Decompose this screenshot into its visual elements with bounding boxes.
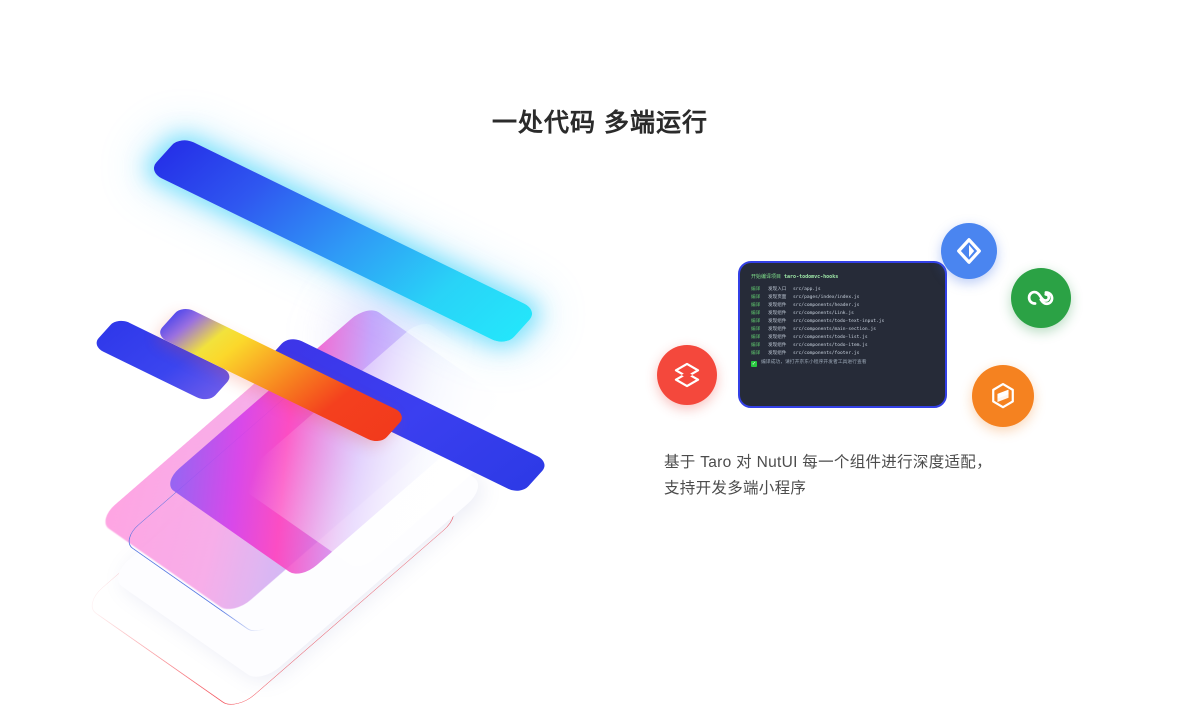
file-path: src/components/Link.js bbox=[793, 312, 854, 317]
compile-tag: 编译 bbox=[751, 352, 768, 357]
terminal-header-label: 开始编译项目 bbox=[751, 274, 781, 280]
file-path: src/components/header.js bbox=[793, 304, 859, 309]
compile-tag: 编译 bbox=[751, 312, 768, 317]
baidu-smartprogram-icon[interactable] bbox=[657, 345, 717, 405]
caption-line-2: 支持开发多端小程序 bbox=[664, 476, 1084, 502]
file-path: src/components/todo-list.js bbox=[793, 336, 868, 341]
compile-tag: 编译 bbox=[751, 288, 768, 293]
terminal-log-row: 编译发现组件src/components/Link.js bbox=[751, 311, 934, 317]
terminal-success-row: ✓ 编译成功，请打开京东小程序开发者工具进行查看 bbox=[751, 361, 934, 367]
discovery-kind: 发现组件 bbox=[768, 352, 793, 357]
discovery-kind: 发现组件 bbox=[768, 320, 793, 325]
caption-text: 基于 Taro 对 NutUI 每一个组件进行深度适配， 支持开发多端小程序 bbox=[664, 450, 1084, 502]
compile-tag: 编译 bbox=[751, 320, 768, 325]
terminal-log-rows: 编译发现入口src/app.js编译发现页面src/pages/index/in… bbox=[751, 287, 934, 358]
terminal-log-row: 编译发现入口src/app.js bbox=[751, 287, 934, 293]
file-path: src/app.js bbox=[793, 288, 821, 293]
compile-tag: 编译 bbox=[751, 344, 768, 349]
file-path: src/components/todo-item.js bbox=[793, 344, 868, 349]
terminal-header: 开始编译项目 taro-todomvc-hooks bbox=[751, 275, 934, 280]
file-path: src/components/todo-text-input.js bbox=[793, 320, 884, 325]
terminal-log-row: 编译发现组件src/components/todo-item.js bbox=[751, 344, 934, 350]
isometric-layers-illustration bbox=[70, 150, 610, 620]
caption-line-1: 基于 Taro 对 NutUI 每一个组件进行深度适配， bbox=[664, 450, 1084, 476]
terminal-success-text: 编译成功，请打开京东小程序开发者工具进行查看 bbox=[761, 361, 867, 366]
compile-tag: 编译 bbox=[751, 296, 768, 301]
compile-tag: 编译 bbox=[751, 336, 768, 341]
discovery-kind: 发现组件 bbox=[768, 312, 793, 317]
discovery-kind: 发现组件 bbox=[768, 344, 793, 349]
discovery-kind: 发现组件 bbox=[768, 304, 793, 309]
page-title: 一处代码 多端运行 bbox=[0, 103, 1200, 139]
compile-tag: 编译 bbox=[751, 304, 768, 309]
terminal-project-name: taro-todomvc-hooks bbox=[784, 274, 838, 280]
terminal-log-row: 编译发现组件src/components/todo-list.js bbox=[751, 336, 934, 342]
file-path: src/components/main-section.js bbox=[793, 328, 876, 333]
build-output-terminal[interactable]: 开始编译项目 taro-todomvc-hooks 编译发现入口src/app.… bbox=[738, 261, 947, 408]
file-path: src/pages/index/index.js bbox=[793, 296, 859, 301]
terminal-log-row: 编译发现组件src/components/main-section.js bbox=[751, 327, 934, 333]
check-icon: ✓ bbox=[751, 361, 757, 367]
discovery-kind: 发现组件 bbox=[768, 328, 793, 333]
terminal-log-row: 编译发现组件src/components/footer.js bbox=[751, 352, 934, 358]
compile-tag: 编译 bbox=[751, 328, 768, 333]
wechat-miniprogram-icon[interactable] bbox=[1011, 268, 1071, 328]
discovery-kind: 发现页面 bbox=[768, 296, 793, 301]
taro-icon[interactable] bbox=[972, 365, 1034, 427]
discovery-kind: 发现组件 bbox=[768, 336, 793, 341]
terminal-log-row: 编译发现组件src/components/todo-text-input.js bbox=[751, 319, 934, 325]
file-path: src/components/footer.js bbox=[793, 352, 859, 357]
discovery-kind: 发现入口 bbox=[768, 288, 793, 293]
terminal-log-row: 编译发现页面src/pages/index/index.js bbox=[751, 295, 934, 301]
terminal-log-row: 编译发现组件src/components/header.js bbox=[751, 303, 934, 309]
alipay-miniprogram-icon[interactable] bbox=[941, 223, 997, 279]
